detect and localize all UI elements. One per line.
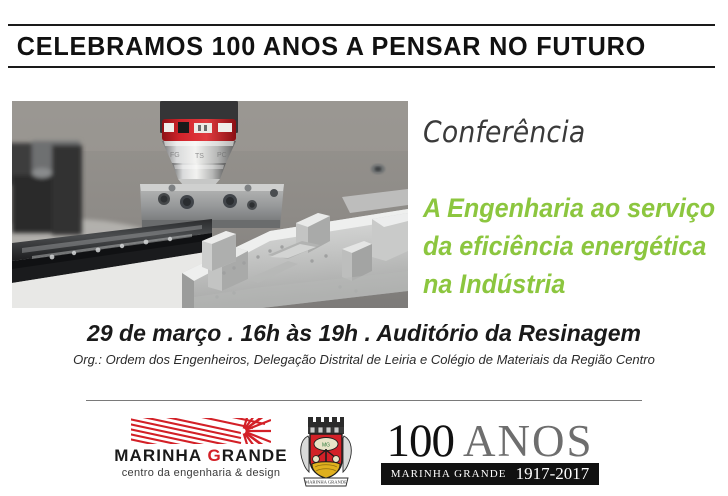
mg-name-part2: RANDE — [222, 446, 288, 465]
marinha-grande-logo: MARINHA GRANDE centro da engenharia & de… — [125, 418, 277, 486]
date-venue-line: 29 de março . 16h às 19h . Auditório da … — [0, 320, 728, 347]
mg-name-part1: MARINHA — [114, 446, 207, 465]
mg-name-g: G — [207, 446, 221, 465]
svg-text:PC: PC — [217, 152, 227, 159]
arms-banner-text: MARINHA GRANDE — [305, 480, 347, 485]
conference-title-line-2: da eficiência energética — [423, 227, 702, 265]
red-striped-burst-mark-icon — [131, 418, 271, 444]
conference-title-line-3: na Indústria — [423, 265, 702, 303]
centenary-bar: MARINHA GRANDE 1917-2017 — [381, 463, 599, 485]
logo-row: MARINHA GRANDE centro da engenharia & de… — [0, 412, 728, 492]
header-banner: CELEBRAMOS 100 ANOS A PENSAR NO FUTURO — [8, 24, 715, 68]
centenary-headline: 100 ANOS — [386, 418, 593, 462]
svg-text:TS: TS — [195, 153, 204, 160]
centenary-logo: 100 ANOS MARINHA GRANDE 1917-2017 — [377, 418, 603, 486]
organizers-line: Org.: Ordem dos Engenheiros, Delegação D… — [0, 352, 728, 367]
centenary-number: 100 — [386, 418, 454, 465]
marinha-grande-tagline: centro da engenharia & design — [122, 467, 281, 479]
svg-text:FG: FG — [170, 152, 180, 159]
conference-title: A Engenharia ao serviço da eficiência en… — [423, 189, 702, 303]
conference-label: Conferência — [423, 115, 585, 149]
centenary-word: ANOS — [463, 419, 594, 464]
banner-title: CELEBRAMOS 100 ANOS A PENSAR NO FUTURO — [8, 31, 646, 62]
marinha-grande-wordmark: MARINHA GRANDE — [114, 447, 287, 464]
centenary-years: 1917-2017 — [516, 464, 590, 484]
conference-title-line-1: A Engenharia ao serviço — [423, 189, 702, 227]
footer-divider — [86, 400, 642, 401]
svg-text:MG: MG — [322, 443, 330, 449]
marinha-grande-coat-of-arms-icon: MG MARINHA GRANDE — [296, 416, 356, 488]
coat-of-arms-logo: MG MARINHA GRANDE — [295, 415, 357, 489]
centenary-city: MARINHA GRANDE — [391, 468, 507, 480]
cnc-machine-probe-photo: FG TS PC — [12, 101, 408, 308]
conference-photo: FG TS PC — [12, 101, 408, 308]
